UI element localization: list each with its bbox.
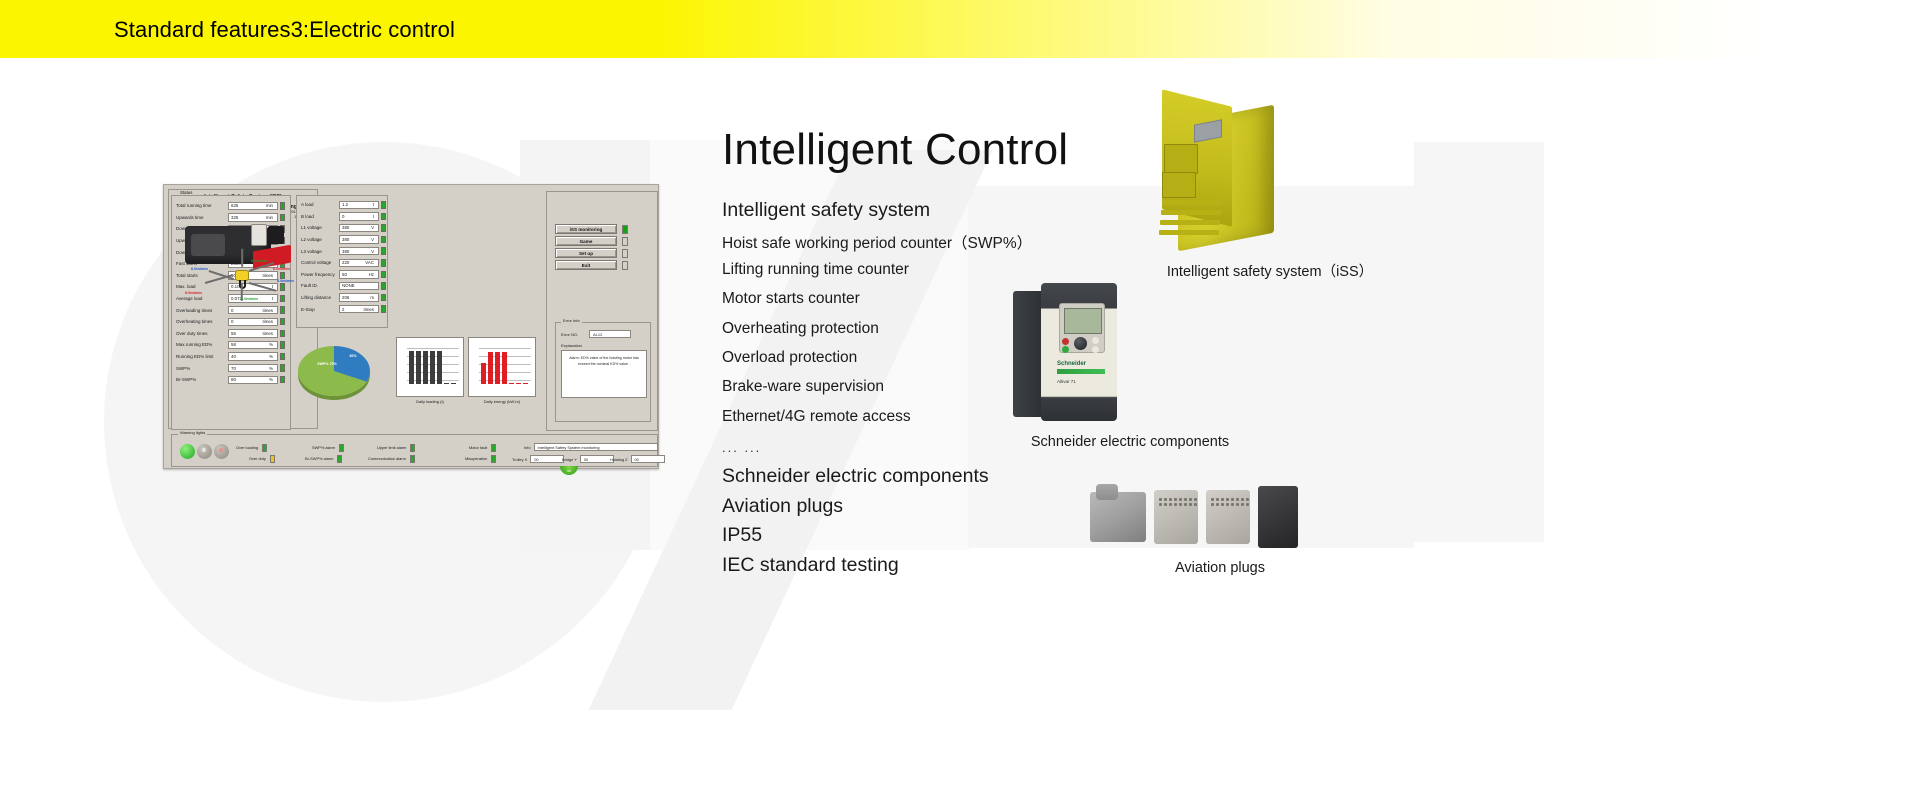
warning-lights-label: Warning lights bbox=[178, 430, 207, 435]
chart-bar bbox=[502, 352, 507, 384]
bar-chart-loading bbox=[396, 337, 464, 397]
pie-chart: SWP% 70% 30% bbox=[296, 332, 388, 430]
hmi-row-field[interactable]: 56times bbox=[228, 329, 278, 337]
info-row: Info Intelligent Safety System monitorin… bbox=[524, 443, 658, 451]
header-banner: Standard features3:Electric control bbox=[0, 0, 1920, 58]
hmi-row-label: Upwards time bbox=[176, 215, 228, 220]
hmi-row-label: A load bbox=[301, 202, 339, 207]
hmi-button-exit[interactable]: Exit bbox=[555, 260, 617, 270]
chart-bar bbox=[481, 363, 486, 384]
hmi-row-led bbox=[381, 259, 386, 267]
hmi-row-unit: min bbox=[266, 215, 275, 220]
error-no-value: AL12 bbox=[589, 330, 631, 338]
coord-label: Trolley X bbox=[512, 457, 527, 462]
slide-root: Standard features3:Electric control Stat… bbox=[0, 0, 1920, 800]
arrow-up bbox=[241, 249, 243, 267]
speed-right: 6.0m/min bbox=[277, 278, 294, 283]
feature-item-6: Brake-ware supervision bbox=[722, 378, 884, 396]
hmi-button-row: Exit bbox=[555, 260, 657, 270]
hmi-row-value: 40 bbox=[231, 354, 236, 359]
info-label: Info bbox=[524, 445, 531, 450]
hmi-row-unit: times bbox=[263, 331, 276, 336]
chart-bar bbox=[430, 351, 435, 384]
error-explanation-label: Explanation bbox=[561, 343, 650, 348]
coord-label: Bridge Y bbox=[562, 457, 577, 462]
alarm-label: Motor fault bbox=[469, 445, 487, 450]
alarm-label: Br-SWP% alarm bbox=[305, 456, 333, 461]
hmi-row-led bbox=[381, 247, 386, 255]
hmi-status-row: Running ED% limit40% bbox=[172, 351, 290, 363]
hmi-row-led bbox=[280, 330, 285, 338]
error-no-label: Error NO. bbox=[561, 332, 589, 337]
hmi-row-led bbox=[381, 305, 386, 313]
hmi-row-unit: VAC bbox=[365, 260, 376, 265]
chart-bar bbox=[509, 383, 514, 384]
hmi-row-label: Overheating times bbox=[176, 319, 228, 324]
hmi-row-label: B load bbox=[301, 214, 339, 219]
hmi-row-field[interactable]: 50Hz bbox=[339, 270, 379, 278]
alarm-led bbox=[491, 455, 496, 463]
chart-bar bbox=[495, 352, 500, 384]
hmi-status-row: Overheating times0times bbox=[172, 316, 290, 328]
hmi-row-field[interactable]: 40% bbox=[228, 352, 278, 360]
info-value: Intelligent Safety System monitoring bbox=[534, 443, 658, 451]
alarm-led bbox=[262, 444, 267, 452]
vfd-model-label: Altivar 71 bbox=[1057, 379, 1076, 384]
hmi-status-row: SWP%70% bbox=[172, 362, 290, 374]
hmi-row-label: E-Stop bbox=[301, 307, 339, 312]
hmi-row-field[interactable]: 1.2t bbox=[339, 201, 379, 209]
hoist-cylinder-shape bbox=[251, 224, 267, 246]
iss-fin-2 bbox=[1161, 210, 1221, 215]
alarm-label: Over loading bbox=[236, 445, 258, 450]
hmi-row-value: 1.2 bbox=[342, 202, 348, 207]
hmi-row-value: NONE bbox=[342, 283, 355, 288]
coord-value: 00 bbox=[631, 455, 665, 463]
hmi-row-value: 380 bbox=[342, 237, 349, 242]
vfd-aux-button-2[interactable] bbox=[1092, 346, 1099, 353]
hmi-row-field[interactable]: 380V bbox=[339, 224, 379, 232]
bar-chart-energy bbox=[468, 337, 536, 397]
pie-label-other: 30% bbox=[344, 354, 362, 358]
hmi-screenshot: Status Total running time625minUpwards t… bbox=[163, 184, 659, 469]
chart-bar bbox=[516, 383, 521, 384]
coord-label: Hoisting Z bbox=[610, 457, 628, 462]
hmi-row-unit: V bbox=[371, 225, 376, 230]
hmi-row-label: Max.running ED% bbox=[176, 342, 228, 347]
alarm-label: SWP% alarm bbox=[312, 445, 335, 450]
hmi-row-led bbox=[381, 282, 386, 290]
hmi-row-led bbox=[381, 213, 386, 221]
alarm-label: Upper limit alarm bbox=[377, 445, 406, 450]
hmi-button-led bbox=[622, 237, 628, 246]
hmi-row-unit: times bbox=[364, 307, 377, 312]
hmi-row-led bbox=[280, 353, 285, 361]
error-explanation-text: Alarm: ED% value of the hoisting motor h… bbox=[561, 350, 647, 398]
hmi-row-unit: % bbox=[269, 354, 275, 359]
page-title: Standard features3:Electric control bbox=[114, 17, 455, 43]
hmi-row-led bbox=[280, 364, 285, 372]
ellipsis: ... ... bbox=[722, 440, 761, 455]
hmi-row-value: 625 bbox=[231, 203, 238, 208]
arrow-right-down bbox=[249, 282, 276, 291]
hmi-status-row: Br-SWP%80% bbox=[172, 374, 290, 386]
hmi-row-led bbox=[280, 318, 285, 326]
hmi-row-label: Total running time bbox=[176, 203, 228, 208]
chart-bar bbox=[423, 351, 428, 384]
alarm-led bbox=[491, 444, 496, 452]
vfd-stop-button[interactable] bbox=[1062, 338, 1069, 345]
error-no-row: Error NO. AL12 bbox=[561, 330, 650, 338]
hmi-button-led bbox=[622, 249, 628, 258]
lamp-green bbox=[180, 444, 195, 459]
plug-base-shape bbox=[1258, 486, 1298, 548]
hmi-button-row: Set up bbox=[555, 248, 657, 258]
hmi-row-field[interactable]: 380V bbox=[339, 235, 379, 243]
hmi-row-unit: Hz bbox=[369, 272, 376, 277]
hmi-status-row: Total running time625min bbox=[172, 200, 290, 212]
hmi-row-unit: V bbox=[371, 237, 376, 242]
hmi-row-unit: V bbox=[371, 249, 376, 254]
alarm-label: Communication alarm bbox=[368, 456, 406, 461]
control-panel: iSS monitoringGameSet upExit Error Info … bbox=[546, 191, 658, 431]
hmi-row-value: 0 bbox=[342, 214, 344, 219]
hmi-row-unit: times bbox=[263, 319, 276, 324]
vfd-knob bbox=[1074, 337, 1087, 350]
hmi-row-field[interactable]: 220VAC bbox=[339, 259, 379, 267]
alarm-led bbox=[270, 455, 275, 463]
hmi-row-value: 56 bbox=[231, 331, 236, 336]
hmi-row-value: 325 bbox=[231, 215, 238, 220]
hmi-row-field[interactable]: 206m bbox=[339, 293, 379, 301]
feature-item-5: Overload protection bbox=[722, 349, 857, 367]
iss-fin-4 bbox=[1159, 230, 1219, 235]
plug-female-insert-shape bbox=[1206, 490, 1250, 544]
status-group-label: Status bbox=[178, 190, 194, 195]
hmi-row-value: 380 bbox=[342, 225, 349, 230]
speed-left-up: 6.0m/min bbox=[191, 266, 208, 271]
vfd-screen bbox=[1064, 308, 1102, 334]
hmi-row-field[interactable]: 0t bbox=[339, 212, 379, 220]
chart-bar bbox=[488, 352, 493, 384]
vfd-keypad bbox=[1059, 303, 1105, 353]
vfd-brand-bar bbox=[1057, 369, 1105, 374]
hmi-row-value: 0 bbox=[231, 319, 233, 324]
iss-fin-1 bbox=[1162, 200, 1222, 205]
hmi-row-value: 2 bbox=[342, 307, 344, 312]
hmi-row-led bbox=[280, 341, 285, 349]
vfd-side-shape bbox=[1013, 291, 1043, 417]
arrow-left-down bbox=[205, 275, 232, 284]
hmi-row-unit: % bbox=[269, 366, 275, 371]
scroll-tab[interactable]: ok bbox=[560, 466, 578, 475]
chart-bar bbox=[409, 351, 414, 384]
lamp-gray bbox=[197, 444, 212, 459]
alarm-label: Over duty bbox=[249, 456, 266, 461]
hmi-row-label: Running ED% limit bbox=[176, 354, 228, 359]
feature-item-1: Hoist safe working period counter（SWP%） bbox=[722, 231, 1032, 253]
alarm-swp: SWP% alarm bbox=[312, 444, 344, 452]
hoist-block-shape bbox=[268, 226, 284, 244]
hmi-row-field[interactable]: 70% bbox=[228, 364, 278, 372]
hmi-row-field[interactable]: 58% bbox=[228, 341, 278, 349]
plug-pin-grid-2 bbox=[1211, 498, 1249, 506]
lamp-red bbox=[214, 444, 229, 459]
error-group-label: Error Info bbox=[561, 318, 582, 323]
coord-trolley: Trolley X 00 bbox=[512, 455, 564, 463]
hmi-row-value: 70 bbox=[231, 366, 236, 371]
hmi-row-value: 380 bbox=[342, 249, 349, 254]
hmi-row-field[interactable]: 380V bbox=[339, 247, 379, 255]
hmi-row-unit: % bbox=[269, 377, 275, 382]
hmi-row-field[interactable]: 2times bbox=[339, 305, 379, 313]
hmi-row-field[interactable]: 0times bbox=[228, 318, 278, 326]
hmi-row-label: Over duty times bbox=[176, 331, 228, 336]
coord-bridge: Bridge Y 00 bbox=[562, 455, 614, 463]
chart-bar bbox=[451, 383, 456, 384]
speed-left-down: 6.0m/min bbox=[185, 290, 202, 295]
alarm-motor-fault: Motor fault bbox=[469, 444, 496, 452]
alarm-label: Misoperation bbox=[465, 456, 487, 461]
hmi-status-row: A load1.2t bbox=[297, 199, 387, 211]
hmi-row-field[interactable]: 625min bbox=[228, 202, 278, 210]
hmi-status-row: Over duty times56times bbox=[172, 328, 290, 340]
coord-hoisting: Hoisting Z 00 bbox=[610, 455, 665, 463]
chart-bar bbox=[444, 383, 449, 384]
hmi-row-unit: % bbox=[269, 342, 275, 347]
speed-down: 6.0m/min bbox=[241, 296, 258, 301]
alarm-over-duty: Over duty bbox=[249, 455, 275, 463]
iss-terminal-block-2 bbox=[1162, 172, 1196, 198]
hmi-status-row: Max.running ED%58% bbox=[172, 339, 290, 351]
feature-item-2: Lifting running time counter bbox=[722, 261, 909, 279]
feature-item-7: Ethernet/4G remote access bbox=[722, 408, 911, 426]
hmi-row-led bbox=[381, 294, 386, 302]
chart-bar bbox=[437, 351, 442, 384]
warning-lights-bar: Warning lights Over loading Over duty SW… bbox=[171, 434, 658, 467]
iss-fin-3 bbox=[1160, 220, 1220, 225]
alarm-upper-limit: Upper limit alarm bbox=[377, 444, 415, 452]
iss-terminal-block-1 bbox=[1164, 144, 1198, 174]
hmi-row-field[interactable]: NONE bbox=[339, 282, 379, 290]
speed-up: 6.6m/min bbox=[251, 258, 268, 263]
hmi-button-iss-monitoring[interactable]: iSS monitoring bbox=[555, 224, 617, 234]
big-item-3: IP55 bbox=[722, 524, 762, 547]
alarm-over-loading: Over loading bbox=[236, 444, 267, 452]
hmi-button-row: iSS monitoring bbox=[555, 224, 657, 234]
hmi-row-unit: times bbox=[263, 308, 276, 313]
big-item-2: Aviation plugs bbox=[722, 495, 843, 518]
hoist-drum-shape bbox=[191, 234, 225, 256]
hmi-row-led bbox=[280, 306, 285, 314]
pie-label-swp: SWP% 70% bbox=[312, 362, 342, 366]
vfd-aux-button-1[interactable] bbox=[1092, 337, 1099, 344]
hmi-button-set-up[interactable]: Set up bbox=[555, 248, 617, 258]
hmi-row-unit: t bbox=[373, 214, 376, 219]
hmi-row-value: 206 bbox=[342, 295, 349, 300]
hmi-row-led bbox=[280, 202, 285, 210]
hmi-row-label: Br-SWP% bbox=[176, 377, 228, 382]
hmi-button-led bbox=[622, 225, 628, 234]
error-info-group: Error Info Error NO. AL12 Explanation Al… bbox=[555, 322, 651, 422]
schneider-drive-caption: Schneider electric components bbox=[950, 434, 1310, 450]
hoist-illustration: 6.6m/min 6.0m/min 6.0m/min 6.0m/min 6.0m… bbox=[169, 220, 317, 306]
subheading: Intelligent safety system bbox=[722, 199, 930, 222]
hmi-row-field[interactable]: 0times bbox=[228, 306, 278, 314]
hmi-row-unit: t bbox=[373, 202, 376, 207]
hmi-row-label: SWP% bbox=[176, 366, 228, 371]
hmi-row-value: 220 bbox=[342, 260, 349, 265]
hmi-row-value: 0 bbox=[231, 308, 233, 313]
feature-item-3: Motor starts counter bbox=[722, 290, 860, 308]
hmi-row-led bbox=[381, 236, 386, 244]
hmi-row-led bbox=[381, 271, 386, 279]
coord-value: 00 bbox=[580, 455, 614, 463]
hmi-row-unit: m bbox=[370, 295, 376, 300]
hmi-button-game[interactable]: Game bbox=[555, 236, 617, 246]
alarm-led bbox=[410, 455, 415, 463]
hmi-row-value: 80 bbox=[231, 377, 236, 382]
schneider-drive-image: Schneider Altivar 71 bbox=[1013, 283, 1123, 425]
aviation-plugs-caption: Aviation plugs bbox=[1040, 560, 1400, 576]
hmi-row-value: 50 bbox=[342, 272, 347, 277]
vfd-start-button[interactable] bbox=[1062, 346, 1069, 353]
big-item-4: IEC standard testing bbox=[722, 554, 899, 577]
plug-male-insert-shape bbox=[1154, 490, 1198, 544]
alarm-led bbox=[337, 455, 342, 463]
coord-value: 00 bbox=[530, 455, 564, 463]
big-item-1: Schneider electric components bbox=[722, 465, 989, 488]
alarm-br-swp: Br-SWP% alarm bbox=[305, 455, 342, 463]
iss-module-caption: Intelligent safety system（iSS） bbox=[1090, 260, 1450, 281]
feature-item-4: Overheating protection bbox=[722, 320, 879, 338]
hmi-row-led bbox=[381, 224, 386, 232]
chart-bar bbox=[523, 383, 528, 384]
plug-pin-grid-1 bbox=[1159, 498, 1197, 506]
alarm-led bbox=[339, 444, 344, 452]
headline: Intelligent Control bbox=[722, 125, 1068, 175]
alarm-communication: Communication alarm bbox=[368, 455, 415, 463]
aviation-plugs-image bbox=[1090, 484, 1300, 554]
alarm-led bbox=[410, 444, 415, 452]
vfd-brand-label: Schneider bbox=[1057, 361, 1086, 367]
bar-chart-loading-caption: Daily loading (t) bbox=[396, 399, 464, 404]
speed-right-up: 6.0m/min bbox=[273, 266, 290, 271]
hmi-row-field[interactable]: 80% bbox=[228, 376, 278, 384]
hmi-row-label: Overloading times bbox=[176, 308, 228, 313]
alarm-misoperation: Misoperation bbox=[465, 455, 496, 463]
bar-chart-energy-caption: Daily energy (kW-hr) bbox=[468, 399, 536, 404]
hmi-row-led bbox=[381, 201, 386, 209]
hmi-row-unit: min bbox=[266, 203, 275, 208]
plug-hood-shape bbox=[1090, 492, 1146, 542]
chart-bar bbox=[416, 351, 421, 384]
iss-module-image bbox=[1148, 88, 1298, 258]
hmi-button-led bbox=[622, 261, 628, 270]
hmi-row-led bbox=[280, 376, 285, 384]
hmi-button-row: Game bbox=[555, 236, 657, 246]
watermark-band-d bbox=[1414, 142, 1544, 542]
hmi-row-value: 58 bbox=[231, 342, 236, 347]
